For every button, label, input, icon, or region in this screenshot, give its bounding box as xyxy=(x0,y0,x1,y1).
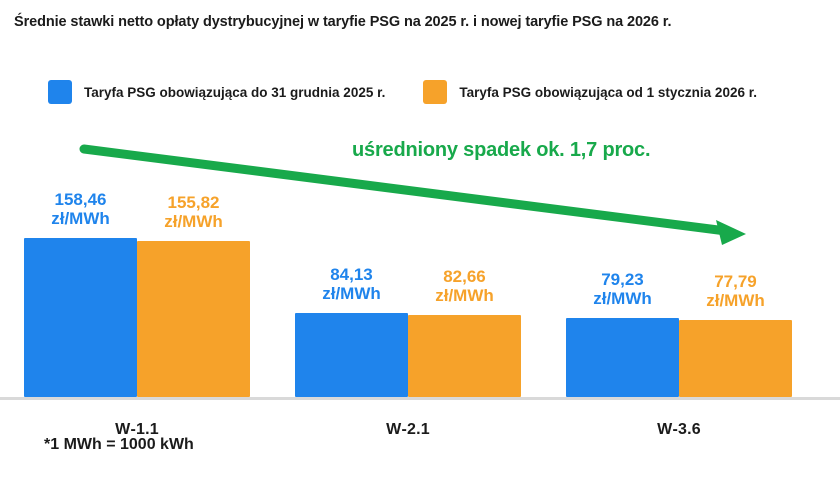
legend-swatch-orange xyxy=(423,80,447,104)
bar-w36-2026[interactable] xyxy=(679,320,792,397)
bar-wrap-w11-2025: 158,46 zł/MWh xyxy=(24,133,137,397)
bar-wrap-w21-2025: 84,13 zł/MWh xyxy=(295,133,408,397)
bar-wrap-w11-2026: 155,82 zł/MWh xyxy=(137,133,250,397)
bar-wrap-w36-2025: 79,23 zł/MWh xyxy=(566,133,679,397)
trend-annotation-label: uśredniony spadek ok. 1,7 proc. xyxy=(352,139,650,162)
bar-label-w21-2026: 82,66 zł/MWh xyxy=(385,267,543,306)
bar-label-w11-2026: 155,82 zł/MWh xyxy=(114,193,272,232)
bar-w36-2025[interactable] xyxy=(566,318,679,397)
bar-w11-2026[interactable] xyxy=(137,241,250,397)
bar-wrap-w21-2026: 82,66 zł/MWh xyxy=(408,133,521,397)
category-label-w21: W‑2.1 xyxy=(295,421,521,439)
bar-group-w11-bars: 158,46 zł/MWh 155,82 zł/MWh xyxy=(24,133,250,397)
bar-group-w21-bars: 84,13 zł/MWh 82,66 zł/MWh xyxy=(295,133,521,397)
legend-label-tariff-2026: Taryfa PSG obowiązująca od 1 stycznia 20… xyxy=(459,85,757,100)
chart-baseline xyxy=(0,397,840,400)
bar-wrap-w36-2026: 77,79 zł/MWh xyxy=(679,133,792,397)
bar-group-w21: 84,13 zł/MWh 82,66 zł/MWh W‑2.1 xyxy=(295,133,521,397)
chart-legend: Taryfa PSG obowiązująca do 31 grudnia 20… xyxy=(48,80,757,104)
bar-w21-2026[interactable] xyxy=(408,315,521,397)
chart-footnote: *1 MWh = 1000 kWh xyxy=(44,436,194,454)
chart-title: Średnie stawki netto opłaty dystrybucyjn… xyxy=(14,14,671,30)
legend-item-tariff-2025: Taryfa PSG obowiązująca do 31 grudnia 20… xyxy=(48,80,385,104)
bar-group-w36: 79,23 zł/MWh 77,79 zł/MWh W‑3.6 xyxy=(566,133,792,397)
bar-w21-2025[interactable] xyxy=(295,313,408,397)
bar-group-w11: 158,46 zł/MWh 155,82 zł/MWh W‑1.1 xyxy=(24,133,250,397)
category-label-w36: W‑3.6 xyxy=(566,421,792,439)
legend-item-tariff-2026: Taryfa PSG obowiązująca od 1 stycznia 20… xyxy=(423,80,757,104)
bar-group-w36-bars: 79,23 zł/MWh 77,79 zł/MWh xyxy=(566,133,792,397)
legend-label-tariff-2025: Taryfa PSG obowiązująca do 31 grudnia 20… xyxy=(84,85,385,100)
bar-w11-2025[interactable] xyxy=(24,238,137,397)
legend-swatch-blue xyxy=(48,80,72,104)
chart-plot-area: 158,46 zł/MWh 155,82 zł/MWh W‑1.1 84,13 … xyxy=(0,120,840,410)
bar-label-w36-2026: 77,79 zł/MWh xyxy=(656,272,814,311)
